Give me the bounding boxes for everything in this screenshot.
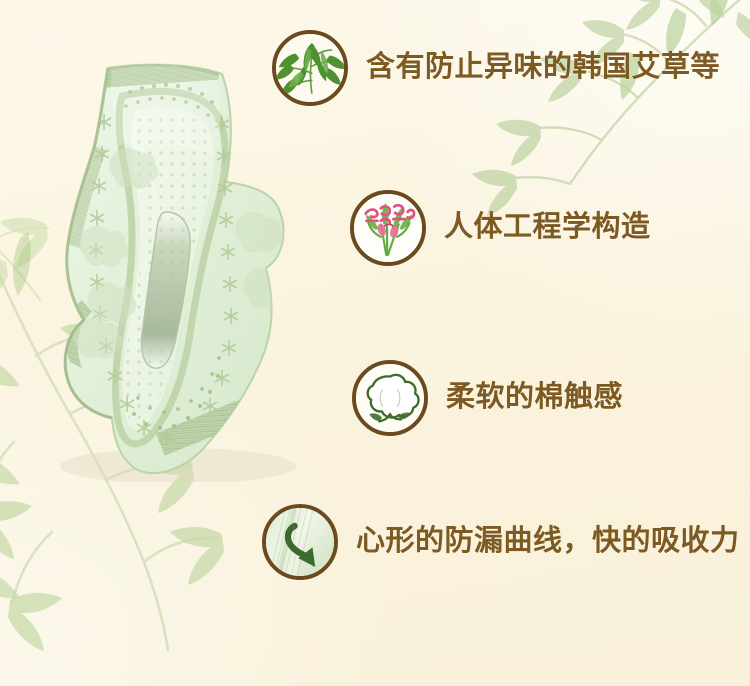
product-image-sanitary-pad [26,62,326,482]
feature-label: 心形的防漏曲线，快的吸收力 [356,526,740,558]
floral-script-icon [350,190,426,266]
curved-arrow-icon [262,504,338,580]
feature-label: 含有防止异味的韩国艾草等 [366,52,720,84]
feature-row-cotton-touch: 柔软的棉触感 [352,360,623,436]
infographic-canvas: 含有防止异味的韩国艾草等 [0,0,750,686]
feature-row-leak-guard: 心形的防漏曲线，快的吸收力 [262,504,740,580]
mugwort-leaf-icon [272,30,348,106]
cotton-boll-icon [352,360,428,436]
feature-label: 柔软的棉触感 [446,382,623,414]
feature-row-ergonomic: 人体工程学构造 [350,190,651,266]
feature-row-odor-control: 含有防止异味的韩国艾草等 [272,30,720,106]
feature-label: 人体工程学构造 [444,212,651,244]
